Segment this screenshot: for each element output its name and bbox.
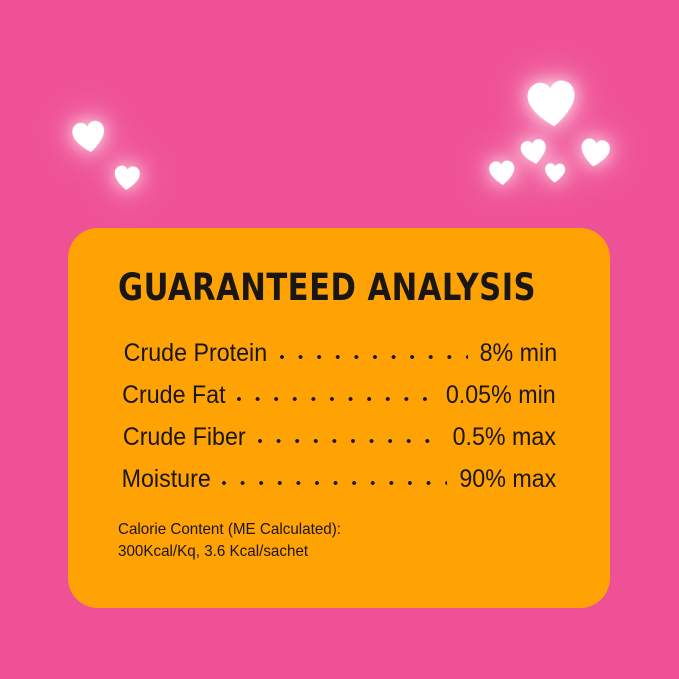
nutrient-label: Crude Fiber xyxy=(123,422,253,452)
calorie-content-note: Calorie Content (ME Calculated): 300Kcal… xyxy=(118,519,538,563)
heart-right-large-icon xyxy=(521,73,583,135)
nutrient-label: Moisture xyxy=(122,464,219,494)
heart-left-large-icon xyxy=(68,116,111,159)
calorie-content-label: Calorie Content (ME Calculated): xyxy=(118,519,538,541)
nutrition-label-panel: GUARANTEED ANALYSIS Crude Protein8% minC… xyxy=(0,0,679,679)
nutrient-label: Crude Fat xyxy=(122,380,233,410)
leader-dots xyxy=(222,457,447,487)
nutrient-label: Crude Protein xyxy=(124,338,275,368)
calorie-content-value: 300Kcal/Kq, 3.6 Kcal/sachet xyxy=(118,541,538,563)
table-row: Crude Fiber0.5% max xyxy=(118,415,560,457)
heart-right-far-icon xyxy=(576,134,614,172)
table-row: Crude Protein8% min xyxy=(118,331,560,373)
analysis-table: Crude Protein8% minCrude Fat0.05% minCru… xyxy=(118,331,560,499)
heart-left-small-icon xyxy=(111,162,143,194)
guaranteed-analysis-card: GUARANTEED ANALYSIS Crude Protein8% minC… xyxy=(68,228,610,608)
leader-dots xyxy=(258,415,440,445)
page-title: GUARANTEED ANALYSIS xyxy=(118,268,525,308)
table-row: Crude Fat0.05% min xyxy=(118,373,560,415)
leader-dots xyxy=(237,373,433,403)
nutrient-value: 90% max xyxy=(451,464,556,494)
heart-right-tiny-icon xyxy=(543,161,568,186)
nutrient-value: 8% min xyxy=(471,338,557,368)
nutrient-value: 0.5% max xyxy=(444,422,556,452)
card-content: GUARANTEED ANALYSIS Crude Protein8% minC… xyxy=(118,268,560,563)
leader-dots xyxy=(280,331,467,361)
heart-right-lower-icon xyxy=(486,157,518,189)
nutrient-value: 0.05% min xyxy=(437,380,555,410)
table-row: Moisture90% max xyxy=(118,457,560,499)
